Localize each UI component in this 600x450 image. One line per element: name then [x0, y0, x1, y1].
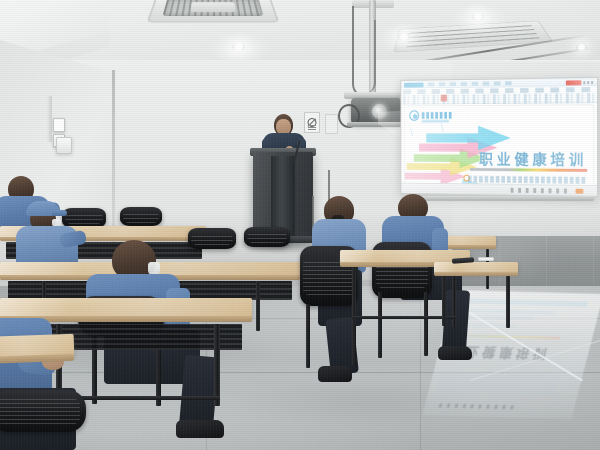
downlight-icon — [472, 13, 484, 21]
desk-top — [0, 298, 252, 318]
app-tab-strip[interactable] — [428, 81, 512, 86]
wall-conduit — [47, 96, 52, 142]
attendee-shoe — [176, 420, 224, 438]
presentation-window: 职业健康培训 — [401, 78, 597, 196]
app-menu-strip[interactable] — [404, 82, 424, 87]
cap-brim — [52, 210, 67, 216]
sign-text-lines — [308, 125, 316, 130]
projector-cable-secondary — [362, 20, 376, 94]
wall-notice-sign — [325, 114, 338, 134]
floor-tile-seam — [420, 286, 421, 450]
projection-screen: 职业健康培训 — [400, 77, 598, 197]
chair-backrest[interactable] — [244, 227, 290, 247]
desk-stretcher-rail — [352, 316, 456, 319]
reflection-slide-body — [437, 371, 561, 394]
chair-backrest[interactable] — [0, 390, 86, 432]
desk-leg — [442, 276, 446, 326]
slide-canvas: 职业健康培训 — [405, 105, 593, 185]
status-bar-controls[interactable] — [511, 188, 572, 194]
desk-leg — [256, 281, 260, 331]
app-action-button[interactable] — [566, 80, 582, 85]
window-controls[interactable] — [583, 81, 594, 84]
downlight-icon — [576, 44, 587, 51]
projector-mount-foot — [347, 122, 405, 127]
downlight-icon — [232, 43, 245, 51]
paper-on-desk[interactable] — [478, 257, 494, 261]
light-switch[interactable] — [53, 118, 65, 132]
chair-backrest[interactable] — [62, 208, 106, 228]
slide-title: 职业健康培训 — [479, 149, 587, 170]
projection-screen-bottom-rail — [402, 196, 594, 201]
app-status-bar — [401, 183, 597, 196]
attendee-shoe — [318, 366, 352, 382]
ribbon-highlight-icon[interactable] — [441, 95, 447, 102]
ribbon-toolbar[interactable] — [401, 86, 597, 105]
projector-lens-icon — [372, 104, 387, 119]
attendee-lower-leg — [442, 289, 470, 353]
vent-hub — [190, 2, 235, 12]
slide-title-underline — [470, 168, 587, 172]
chair-backrest[interactable] — [188, 228, 236, 249]
attendee-shoe — [438, 346, 472, 360]
ac-cassette-vent-left-icon — [147, 0, 280, 22]
classroom-training-photo: 职业健康培训 职业健康培训 — [0, 0, 600, 450]
chair-backrest[interactable] — [120, 207, 162, 226]
ribbon-command-icons[interactable] — [403, 93, 595, 105]
no-smoking-sign — [304, 112, 320, 133]
chair-leg — [306, 304, 310, 368]
wall-mounted-box — [56, 137, 72, 154]
reflection-status-bar — [438, 403, 519, 409]
organization-logo-icon — [409, 110, 419, 121]
desk-leg — [506, 276, 510, 328]
desk-leg — [214, 324, 220, 406]
chair-leg — [424, 292, 428, 356]
status-bar-indicator — [576, 189, 584, 194]
reflection-ribbon — [457, 298, 587, 306]
chair-leg — [378, 292, 382, 358]
downlight-icon — [398, 33, 410, 41]
